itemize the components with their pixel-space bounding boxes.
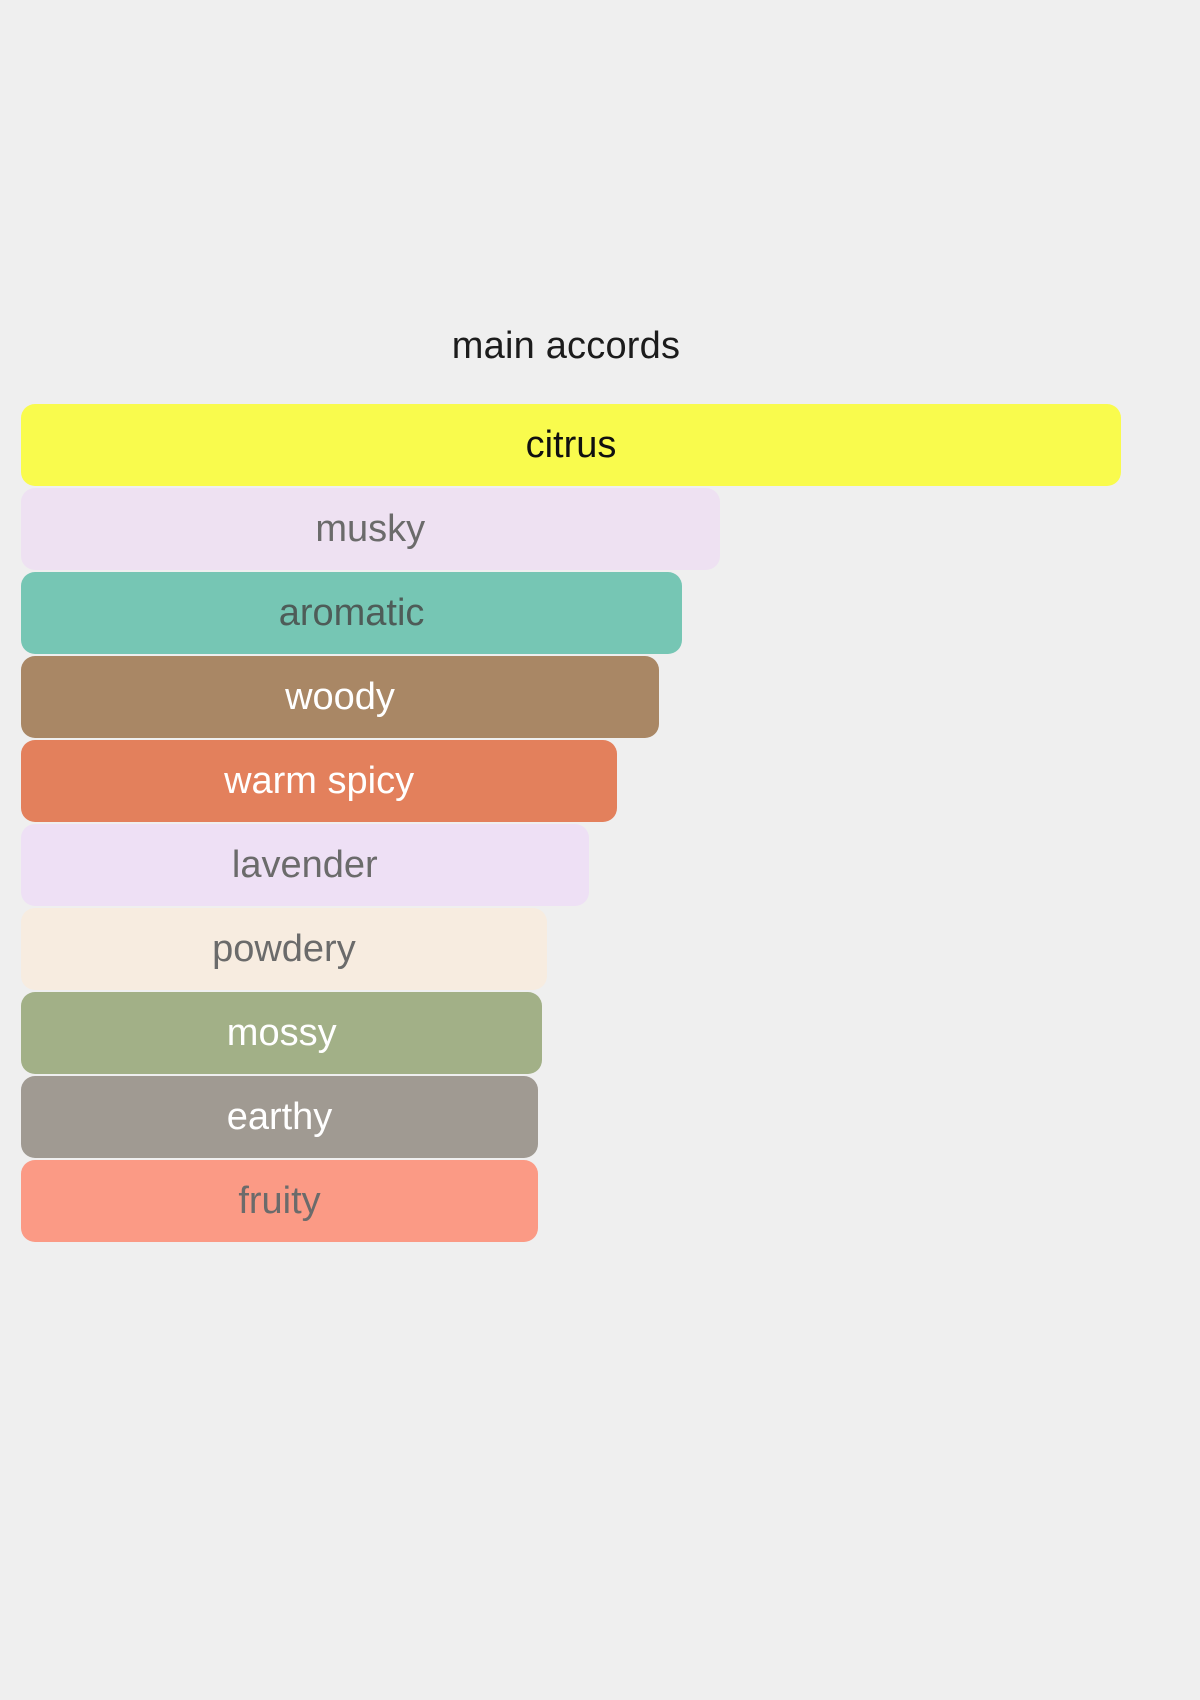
accord-bar-fill — [21, 740, 617, 822]
main-accords-chart: main accords citrusmuskyaromaticwoodywar… — [0, 0, 1200, 1700]
accord-bar-fill — [21, 656, 659, 738]
accord-bar-row[interactable]: fruity — [21, 1160, 1181, 1242]
accord-bar-row[interactable]: citrus — [21, 404, 1181, 486]
accord-bar-row[interactable]: musky — [21, 488, 1181, 570]
accord-bar-row[interactable]: mossy — [21, 992, 1181, 1074]
accord-bar-fill — [21, 1160, 538, 1242]
accord-bar-row[interactable]: woody — [21, 656, 1181, 738]
accord-bar-list: citrusmuskyaromaticwoodywarm spicylavend… — [21, 404, 1181, 1244]
accord-bar-fill — [21, 1076, 538, 1158]
accord-bar-row[interactable]: warm spicy — [21, 740, 1181, 822]
accord-bar-row[interactable]: earthy — [21, 1076, 1181, 1158]
accord-bar-row[interactable]: powdery — [21, 908, 1181, 990]
chart-title: main accords — [21, 324, 1111, 368]
accord-bar-fill — [21, 404, 1121, 486]
accord-bar-fill — [21, 992, 542, 1074]
accord-bar-fill — [21, 488, 720, 570]
accord-bar-row[interactable]: lavender — [21, 824, 1181, 906]
accord-bar-row[interactable]: aromatic — [21, 572, 1181, 654]
accord-bar-fill — [21, 908, 547, 990]
accord-bar-fill — [21, 572, 682, 654]
accord-bar-fill — [21, 824, 589, 906]
